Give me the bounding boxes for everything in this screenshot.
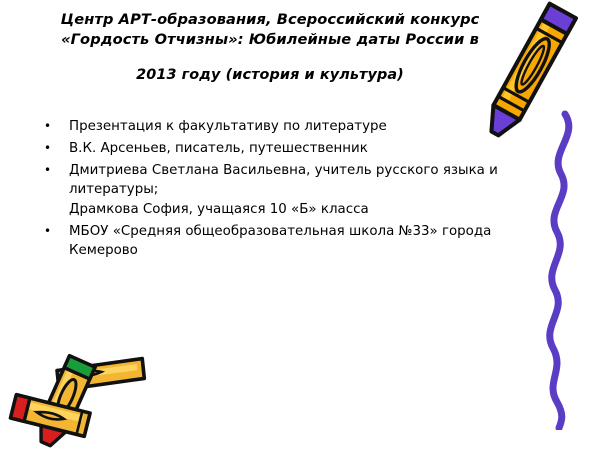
slide-body-list: • Презентация к факультативу по литерату… [40,117,510,263]
list-item: • В.К. Арсеньев, писатель, путешественни… [40,139,510,158]
list-item: • Дмитриева Светлана Васильевна, учитель… [40,161,510,219]
bullet-icon: • [44,161,51,180]
title-line-2: «Гордость Отчизны»: Юбилейные даты Росси… [52,30,488,50]
title-line-3: 2013 году (история и культура) [52,66,488,86]
list-item: • Презентация к факультативу по литерату… [40,117,510,136]
bullet-icon: • [44,139,51,158]
list-item-text: Дмитриева Светлана Васильевна, учитель р… [69,161,510,200]
slide-canvas: Центр АРТ-образования, Всероссийский кон… [0,0,600,450]
crayon-icon [0,340,166,450]
crayons-bottom-left-decoration [0,340,166,450]
title-line-1: Центр АРТ-образования, Всероссийский кон… [52,10,488,30]
list-item-text: В.К. Арсеньев, писатель, путешественник [69,139,510,158]
bullet-icon: • [44,117,51,136]
squiggle-right-decoration [535,110,600,430]
slide-title: Центр АРТ-образования, Всероссийский кон… [52,10,488,86]
bullet-icon: • [44,222,51,241]
squiggle-icon [535,110,600,430]
list-item-text-secondary: Драмкова София, учащаяся 10 «Б» класса [69,200,510,219]
list-item-text: Презентация к факультативу по литературе [69,117,510,136]
list-item-text: МБОУ «Средняя общеобразовательная школа … [69,222,510,261]
list-item: • МБОУ «Средняя общеобразовательная школ… [40,222,510,261]
